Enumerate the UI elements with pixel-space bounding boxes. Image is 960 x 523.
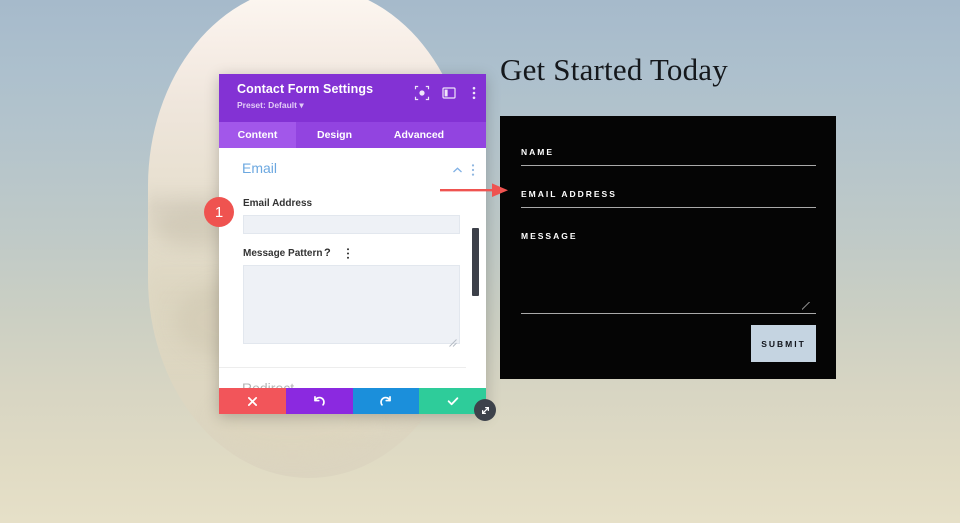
- field-kebab-menu-icon[interactable]: [343, 247, 353, 260]
- undo-button[interactable]: [286, 388, 353, 414]
- modal-tab-bar: Content Design Advanced: [219, 122, 486, 148]
- modal-body: Email Email Address Message Pattern ?: [219, 148, 486, 414]
- settings-modal: Contact Form Settings Preset: Default ▾: [219, 74, 486, 414]
- field-label-email-address: Email Address: [243, 198, 312, 209]
- modal-titlebar: Contact Form Settings Preset: Default ▾: [219, 74, 486, 122]
- preview-email-label: EMAIL ADDRESS: [521, 189, 816, 199]
- preview-name-input[interactable]: [521, 165, 816, 166]
- section-divider: [219, 367, 466, 368]
- page-title: Get Started Today: [500, 52, 728, 88]
- discard-button[interactable]: [219, 388, 286, 414]
- modal-resize-handle[interactable]: [474, 399, 496, 421]
- preview-submit-button[interactable]: SUBMIT: [751, 325, 816, 362]
- modal-action-bar: [219, 388, 486, 414]
- preset-selector[interactable]: Preset: Default ▾: [237, 100, 304, 111]
- tab-advanced[interactable]: Advanced: [373, 122, 465, 148]
- step-badge-1: 1: [204, 197, 234, 227]
- redo-button[interactable]: [353, 388, 420, 414]
- tab-design[interactable]: Design: [296, 122, 373, 148]
- modal-title: Contact Form Settings: [237, 82, 373, 96]
- preview-message-input[interactable]: [521, 313, 816, 314]
- preview-email-input[interactable]: [521, 207, 816, 208]
- kebab-menu-icon[interactable]: [466, 85, 482, 101]
- preview-message-label: MESSAGE: [521, 231, 816, 241]
- email-address-input[interactable]: [243, 215, 460, 234]
- tab-content[interactable]: Content: [219, 122, 296, 148]
- resize-grip-icon: [802, 302, 810, 310]
- focus-icon[interactable]: [414, 85, 430, 101]
- chevron-up-icon[interactable]: [451, 164, 464, 177]
- message-pattern-textarea[interactable]: [243, 265, 460, 344]
- field-label-message-pattern: Message Pattern: [243, 248, 322, 259]
- preview-name-label: NAME: [521, 147, 816, 157]
- screenshot-canvas: Get Started Today NAME EMAIL ADDRESS MES…: [0, 0, 960, 523]
- help-icon[interactable]: ?: [324, 247, 331, 259]
- scrollbar-thumb[interactable]: [472, 228, 479, 296]
- section-header-email[interactable]: Email: [219, 160, 486, 184]
- modal-scrollbar[interactable]: [470, 148, 481, 414]
- panel-layout-icon[interactable]: [441, 85, 457, 101]
- contact-form-preview: NAME EMAIL ADDRESS MESSAGE SUBMIT: [500, 116, 836, 379]
- section-title-email: Email: [242, 160, 277, 176]
